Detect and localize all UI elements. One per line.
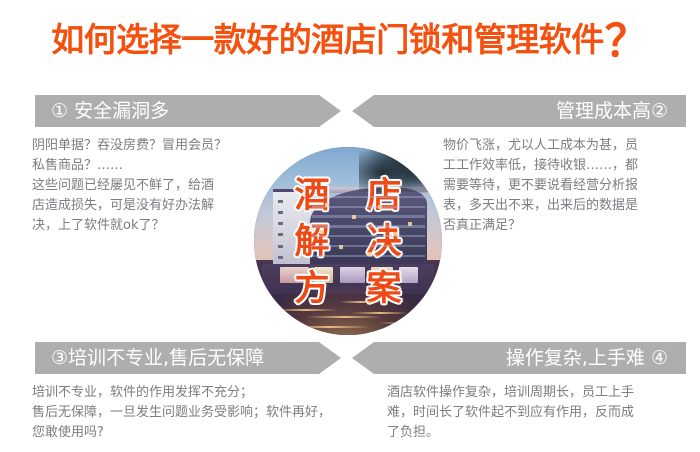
facade-glass-band xyxy=(312,215,425,217)
light-trail xyxy=(378,322,442,324)
lit-window xyxy=(320,230,324,234)
lit-window xyxy=(367,252,371,256)
section-banner-2: 管理成本高② xyxy=(352,95,686,127)
section-banner-4-label: 操作复杂,上手难 ④ xyxy=(506,349,668,368)
lit-window xyxy=(339,245,343,249)
lit-window xyxy=(408,222,412,226)
hotel-photo-circle: 酒 店 解 决 方 案 xyxy=(254,147,442,335)
tower-window xyxy=(278,245,283,248)
lit-window xyxy=(378,205,382,209)
light-trail xyxy=(288,326,371,328)
lit-window xyxy=(393,232,397,236)
poster-canvas: 如何选择一款好的酒店门锁和管理软件 ？ ① 安全漏洞多 管理成本高② ③培训不专… xyxy=(0,0,700,452)
tower-window xyxy=(278,233,283,236)
section-body-1: 阴阳单据？吞没房费？冒用会员？ 私售商品？…… 这些问题已经屡见不鲜了，给酒 店… xyxy=(32,136,264,236)
section-body-2: 物价飞涨，尤以人工成本为甚，员 工工作效率低，接待收银……，都 需要等待，更不要… xyxy=(443,136,673,236)
overlay-char-5: 方 xyxy=(294,272,329,307)
lit-window xyxy=(352,215,356,219)
tower-window xyxy=(278,200,283,203)
page-title-text: 如何选择一款好的酒店门锁和管理软件 xyxy=(51,23,604,56)
facade-glass-band xyxy=(312,245,425,247)
light-trail xyxy=(340,301,381,303)
light-trail xyxy=(273,309,337,311)
circle-overlay-text: 酒 店 解 决 方 案 xyxy=(254,147,442,335)
facade-glass-band xyxy=(312,235,425,237)
tower-window xyxy=(278,211,283,214)
section-banner-4: 操作复杂,上手难 ④ xyxy=(352,342,686,374)
section-banner-1-label: ① 安全漏洞多 xyxy=(51,102,169,121)
section-banner-3-label: ③培训不专业,售后无保障 xyxy=(51,349,264,368)
section-banner-3: ③培训不专业,售后无保障 xyxy=(35,342,341,374)
section-body-3: 培训不专业，软件的作用发挥不充分； 售后无保障，一旦发生问题业务受影响；软件再好… xyxy=(32,383,362,443)
section-body-4: 酒店软件操作复杂，培训周期长，员工上手 难，时间长了软件起不到应有作用，反而成 … xyxy=(387,383,677,443)
section-banner-2-label: 管理成本高② xyxy=(556,102,668,121)
lit-window xyxy=(325,203,329,207)
facade-glass-band xyxy=(312,196,425,198)
page-title-question-mark: ？ xyxy=(605,20,649,64)
page-title: 如何选择一款好的酒店门锁和管理软件 ？ xyxy=(0,8,700,70)
light-trail xyxy=(307,316,382,318)
tower-window xyxy=(278,256,283,259)
tower-window xyxy=(278,222,283,225)
section-banner-1: ① 安全漏洞多 xyxy=(35,95,341,127)
